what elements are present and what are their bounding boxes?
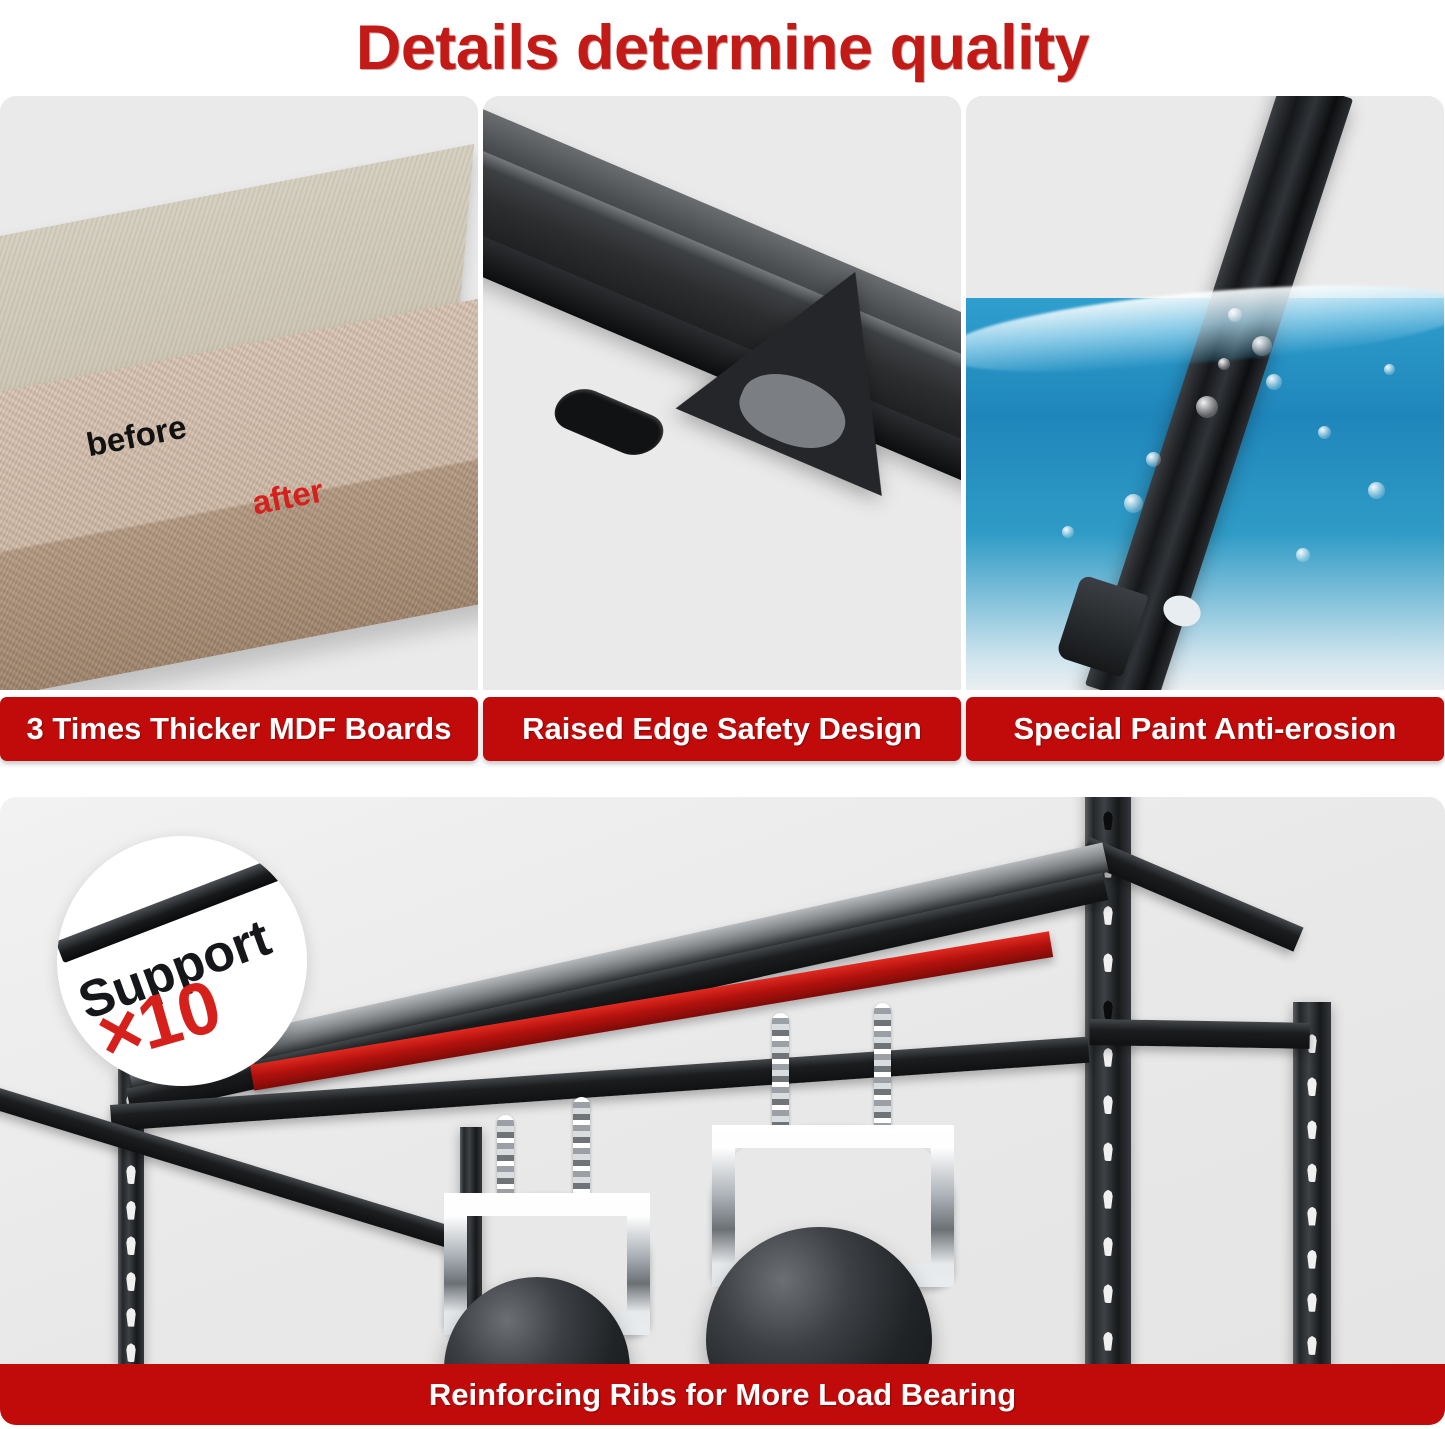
page-header: Details determine quality: [0, 0, 1445, 96]
keyhole-slot-icon: [1102, 1095, 1115, 1114]
bubble-icon: [1196, 396, 1218, 418]
bubble-icon: [1384, 364, 1395, 375]
keyhole-slot-icon: [125, 1308, 138, 1327]
keyhole-slot-icon: [1306, 1336, 1319, 1355]
keyhole-slot-icon: [125, 1236, 138, 1255]
keyhole-slot-icon: [125, 1272, 138, 1291]
hanging-chain: [874, 1003, 891, 1139]
keyhole-slot-icon: [1306, 1250, 1319, 1269]
keyhole-slot-icon: [125, 1201, 138, 1220]
keyhole-slot-icon: [1306, 1120, 1319, 1139]
keyhole-slot-icon: [1102, 811, 1115, 830]
support-count-badge: Support ×10: [57, 836, 307, 1086]
caption-reinforcing-ribs: Reinforcing Ribs for More Load Bearing: [0, 1364, 1445, 1425]
caption-anti-erosion-text: Special Paint Anti-erosion: [1014, 711, 1397, 747]
keyhole-slot-icon: [1102, 1000, 1115, 1019]
caption-raised-edge: Raised Edge Safety Design: [483, 697, 961, 761]
keyhole-slot-icon: [1306, 1163, 1319, 1182]
rack-side-beam: [1090, 1019, 1310, 1049]
keyhole-slot-icon: [1102, 1190, 1115, 1209]
mdf-boards-photo: before after: [0, 96, 478, 690]
keyhole-slot-icon: [1306, 1207, 1319, 1226]
bubble-icon: [1266, 374, 1282, 390]
bubble-icon: [1124, 494, 1143, 513]
keyhole-slot-icon: [1102, 1237, 1115, 1256]
caption-mdf-boards-text: 3 Times Thicker MDF Boards: [27, 711, 452, 747]
keyhole-slot-icon: [1102, 1284, 1115, 1303]
bubble-icon: [1296, 548, 1310, 562]
feature-panel-raised-edge: Raised Edge Safety Design: [483, 96, 961, 761]
caption-reinforcing-ribs-text: Reinforcing Ribs for More Load Bearing: [429, 1377, 1016, 1413]
feature-panel-anti-erosion: Special Paint Anti-erosion: [966, 96, 1444, 761]
rack-upright-post-rear: [1293, 1002, 1331, 1387]
page-title: Details determine quality: [356, 12, 1089, 84]
keyhole-slot-icon: [1102, 1048, 1115, 1067]
bubble-icon: [1146, 452, 1161, 467]
keyhole-slot-icon: [1102, 906, 1115, 925]
anti-erosion-photo: [966, 96, 1444, 690]
keyhole-slot-group: [1293, 1002, 1331, 1387]
bubble-icon: [1368, 482, 1385, 499]
keyhole-slot-icon: [125, 1165, 138, 1184]
bubble-icon: [1252, 336, 1272, 356]
keyhole-slot-icon: [125, 1343, 138, 1362]
caption-anti-erosion: Special Paint Anti-erosion: [966, 697, 1444, 761]
feature-panel-mdf-boards: before after 3 Times Thicker MDF Boards: [0, 96, 478, 761]
bubble-icon: [1318, 426, 1331, 439]
hanging-chain: [573, 1097, 590, 1207]
bubble-icon: [1218, 358, 1230, 370]
beam-slot-hole: [545, 382, 674, 462]
keyhole-slot-icon: [1306, 1293, 1319, 1312]
keyhole-slot-icon: [1102, 953, 1115, 972]
keyhole-slot-icon: [1306, 1077, 1319, 1096]
caption-mdf-boards: 3 Times Thicker MDF Boards: [0, 697, 478, 761]
raised-edge-photo: [483, 96, 961, 690]
feature-panel-row: before after 3 Times Thicker MDF Boards …: [0, 96, 1445, 761]
caption-raised-edge-text: Raised Edge Safety Design: [522, 711, 922, 747]
bubble-icon: [1062, 526, 1074, 538]
hanging-chain: [772, 1013, 789, 1141]
keyhole-slot-icon: [1102, 1332, 1115, 1351]
keyhole-slot-icon: [1102, 1142, 1115, 1161]
bubble-icon: [1228, 308, 1242, 322]
